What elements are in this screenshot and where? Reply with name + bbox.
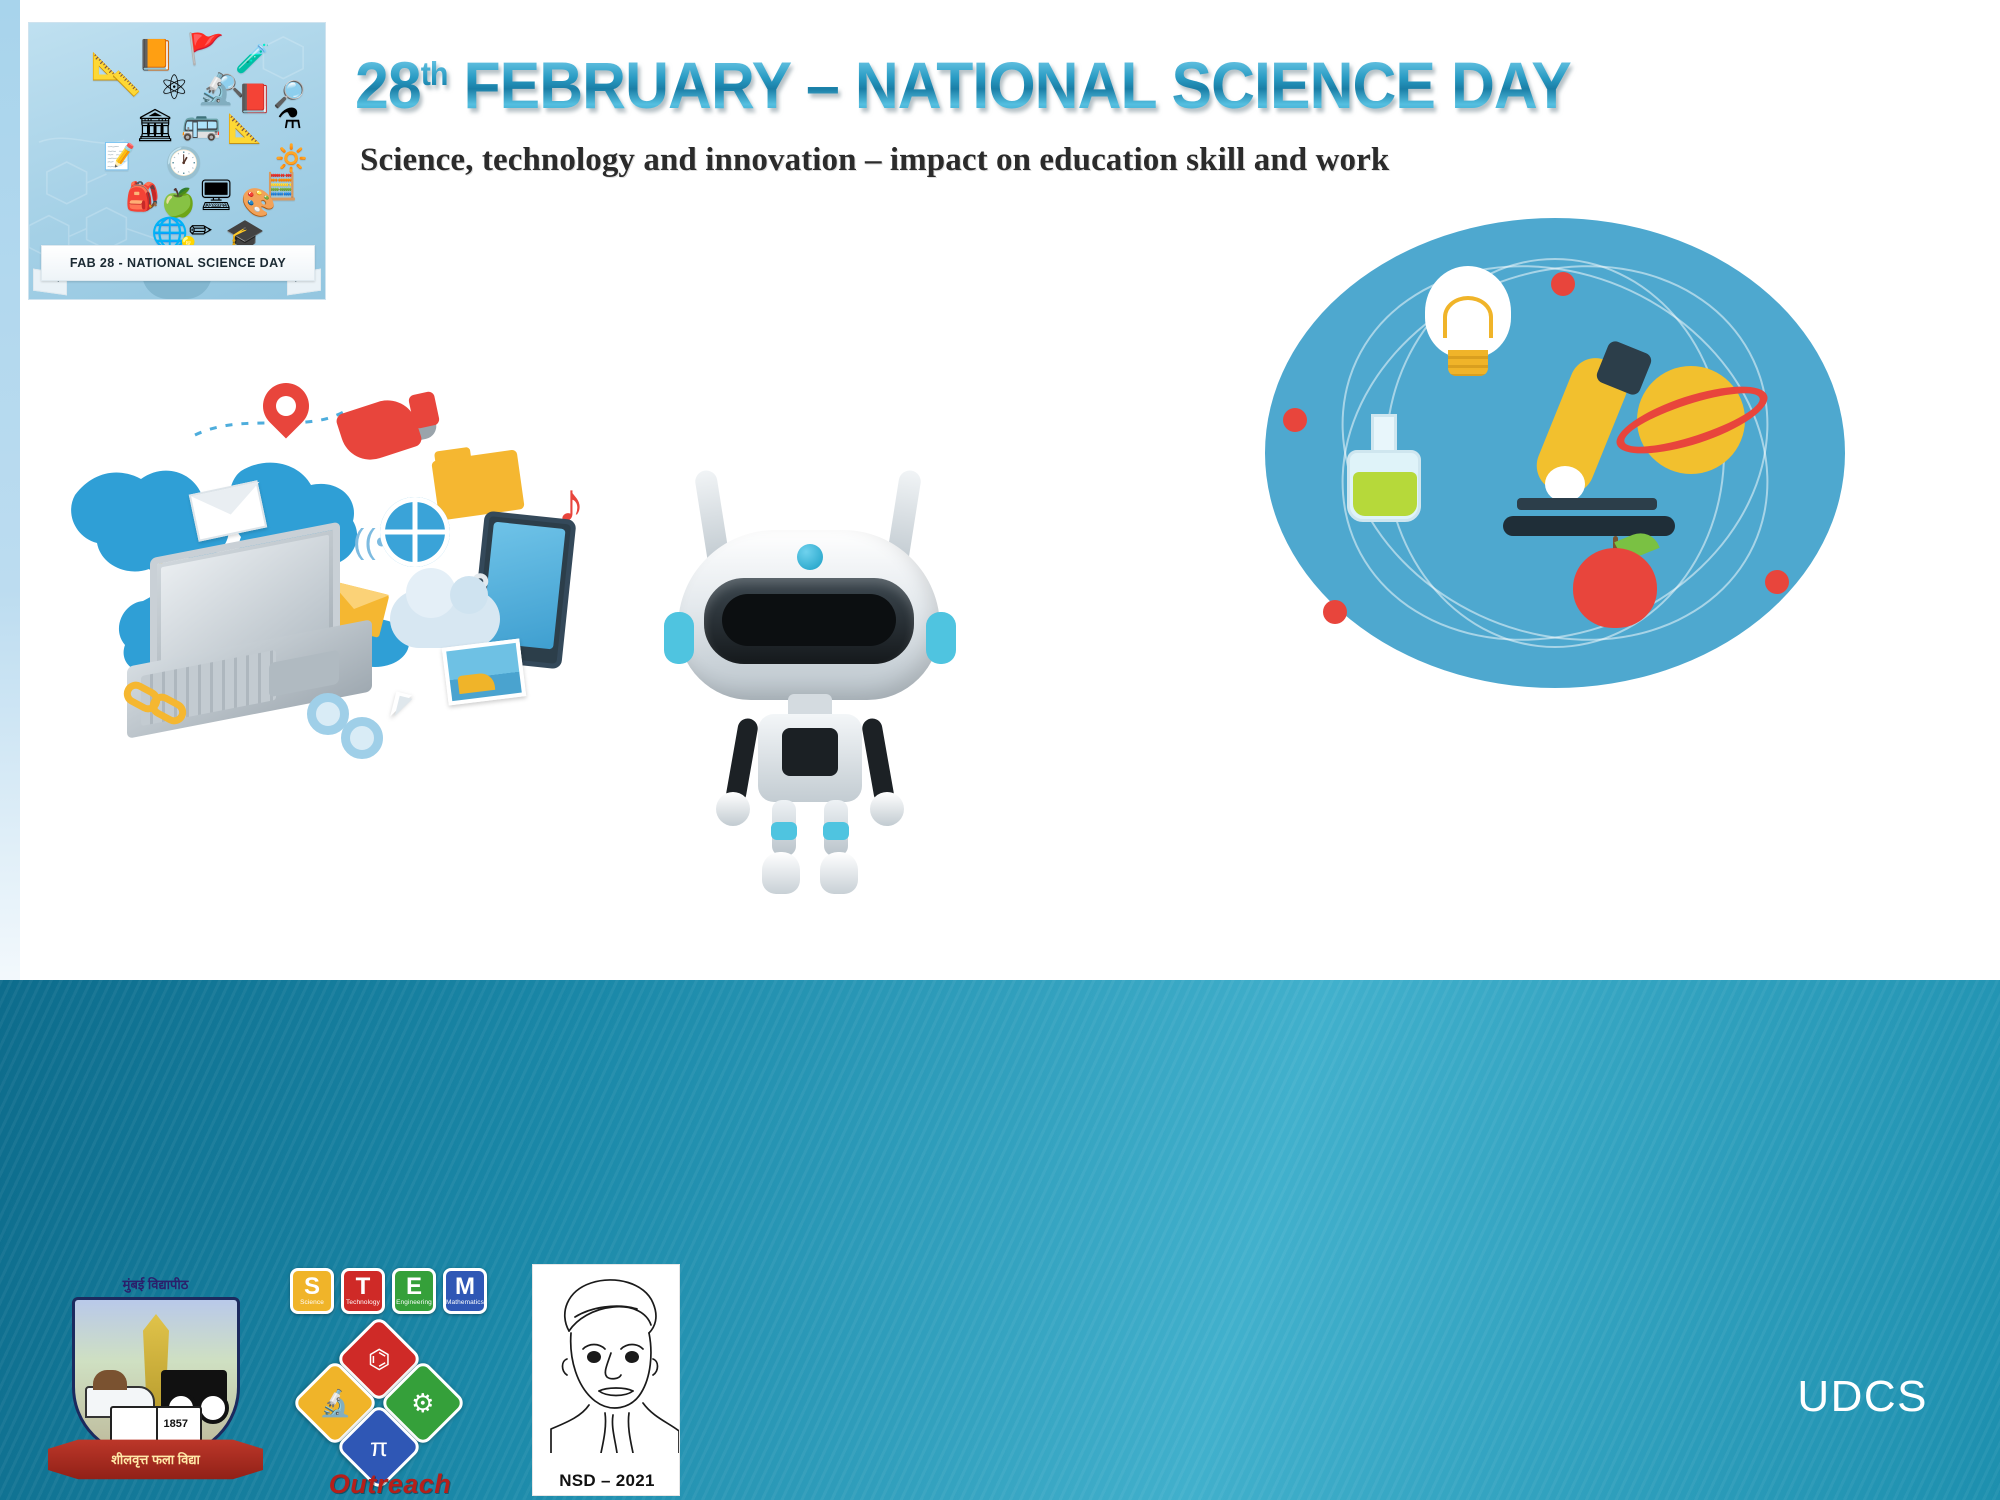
science-circle-illustration: [1265, 218, 1845, 688]
education-icon-18: 🎒: [125, 183, 160, 211]
stem-letter-t: T: [356, 1276, 371, 1299]
red-dot-3: [1551, 272, 1575, 296]
robot-knee-right: [823, 822, 849, 840]
education-icon-3: 🧪: [235, 45, 270, 73]
stem-word-science: Science: [300, 1299, 324, 1306]
light-bulb-filament: [1443, 296, 1493, 338]
photo-icon: [442, 638, 526, 705]
robot-ear-right: [926, 612, 956, 664]
stem-tile-engineering: E Engineering: [392, 1268, 436, 1314]
nsd-portrait-card: NSD – 2021: [532, 1264, 680, 1496]
nsd-year-label: NSD – 2021: [533, 1471, 680, 1491]
stem-word-engineering: Engineering: [396, 1299, 432, 1306]
robot-chest-panel: [782, 728, 838, 776]
title-rest: FEBRUARY – NATIONAL SCIENCE DAY: [448, 48, 1571, 122]
cv-raman-portrait-lineart: [533, 1267, 680, 1453]
university-motto: शीलवृत्त फला विद्या: [111, 1450, 200, 1468]
robot-foot-left: [762, 852, 800, 894]
erlenmeyer-flask-icon: [1347, 414, 1421, 522]
circuit-icon: ⌬: [368, 1346, 391, 1372]
education-icon-5: ⚛: [159, 71, 189, 105]
robot-foot-right: [820, 852, 858, 894]
title-number: 28: [355, 48, 421, 122]
organization-label: UDCS: [1797, 1372, 1928, 1422]
university-motto-ribbon: शीलवृत्त फला विद्या: [48, 1436, 263, 1482]
national-science-day-logo-card: 📐📙🚩🧪🔍⚛🔬📕🔎📏🏛🚌📐⚗📝🕐🔆🧮🎒🍏🖥🎨🌐✏🎓💡 ☀ ☀ FAB 28 - …: [28, 22, 326, 300]
education-icon-11: 🚌: [181, 107, 221, 139]
red-dot-2: [1323, 600, 1347, 624]
education-icon-15: 🕐: [165, 149, 202, 179]
light-bulb-base: [1448, 350, 1488, 376]
apple-icon: [1573, 548, 1657, 628]
education-icon-1: 📙: [137, 41, 174, 71]
microscope-icon: 🔬: [319, 1390, 351, 1416]
gears-icon: ⚙: [411, 1390, 434, 1416]
education-icon-19: 🍏: [161, 189, 196, 217]
stem-outreach-caption: Outreach: [290, 1469, 490, 1500]
robot-hand-left: [716, 792, 750, 826]
page-title: 28th FEBRUARY – NATIONAL SCIENCE DAY: [355, 52, 1827, 119]
stem-word-mathematics: Mathematics: [446, 1299, 484, 1306]
title-ordinal-suffix: th: [421, 55, 448, 92]
university-name-devanagari: मुंबई विद्यापीठ: [123, 1275, 189, 1293]
stem-letter-s: S: [304, 1276, 320, 1299]
stem-tile-science: S Science: [290, 1268, 334, 1314]
university-crest-shield: 1857: [72, 1297, 240, 1457]
flask-body: [1347, 450, 1421, 522]
red-dot-1: [1283, 408, 1307, 432]
robot-visor-lens: [722, 594, 896, 646]
mumbai-university-logo: मुंबई विद्यापीठ 1857 शीलवृत्त फला विद्या: [48, 1273, 263, 1488]
laptop-trackpad: [269, 650, 339, 698]
gear-icon-2: [341, 717, 383, 759]
education-icon-6: 🔬: [197, 75, 234, 105]
photo-thumbnail: [446, 643, 522, 701]
education-icon-20: 🖥: [197, 181, 235, 211]
robot-torso: [758, 714, 862, 802]
stem-tile-technology: T Technology: [341, 1268, 385, 1314]
logo-banner-text: FAB 28 - NATIONAL SCIENCE DAY: [41, 245, 315, 281]
robot-forehead-light: [797, 544, 823, 570]
stem-letter-e: E: [406, 1276, 422, 1299]
education-icon-7: 📕: [237, 85, 272, 113]
education-icon-13: ⚗: [277, 105, 302, 133]
cloud-icon: [390, 590, 500, 648]
left-accent-strip: [0, 0, 20, 1070]
education-icon-14: 📝: [103, 143, 135, 169]
education-icon-16: 🔆: [275, 145, 307, 171]
education-icon-21: 🎨: [241, 189, 276, 217]
microscope-lens: [1545, 466, 1585, 502]
stem-letter-tiles: S Science T Technology E Engineering M M…: [290, 1268, 487, 1314]
robot-ear-left: [664, 612, 694, 664]
flask-neck: [1371, 414, 1397, 454]
microscope-base: [1503, 516, 1675, 536]
education-icon-12: 📐: [227, 115, 262, 143]
robot-vr-visor: [704, 578, 914, 664]
folder-icon: [431, 449, 525, 520]
poster-slide: 📐📙🚩🧪🔍⚛🔬📕🔎📏🏛🚌📐⚗📝🕐🔆🧮🎒🍏🖥🎨🌐✏🎓💡 ☀ ☀ FAB 28 - …: [0, 0, 2000, 1500]
pi-icon: π: [370, 1434, 388, 1460]
education-icon-2: 🚩: [187, 35, 224, 65]
stem-letter-m: M: [455, 1276, 475, 1299]
education-icon-9: 📏: [111, 73, 141, 97]
technology-collage: ((• ♪: [45, 375, 665, 795]
vr-robot-illustration: [660, 470, 960, 890]
red-dot-4: [1765, 570, 1789, 594]
founding-year: 1857: [164, 1418, 188, 1430]
page-subtitle: Science, technology and innovation – imp…: [360, 142, 1960, 179]
education-icon-10: 🏛: [135, 109, 176, 141]
robot-hand-right: [870, 792, 904, 826]
microscope-stage: [1517, 498, 1657, 510]
stem-word-technology: Technology: [346, 1299, 380, 1306]
robot-knee-left: [771, 822, 797, 840]
globe-network-icon: [380, 497, 450, 567]
stem-outreach-logo: S Science T Technology E Engineering M M…: [290, 1266, 490, 1496]
flask-liquid: [1353, 472, 1417, 516]
stem-tile-mathematics: M Mathematics: [443, 1268, 487, 1314]
